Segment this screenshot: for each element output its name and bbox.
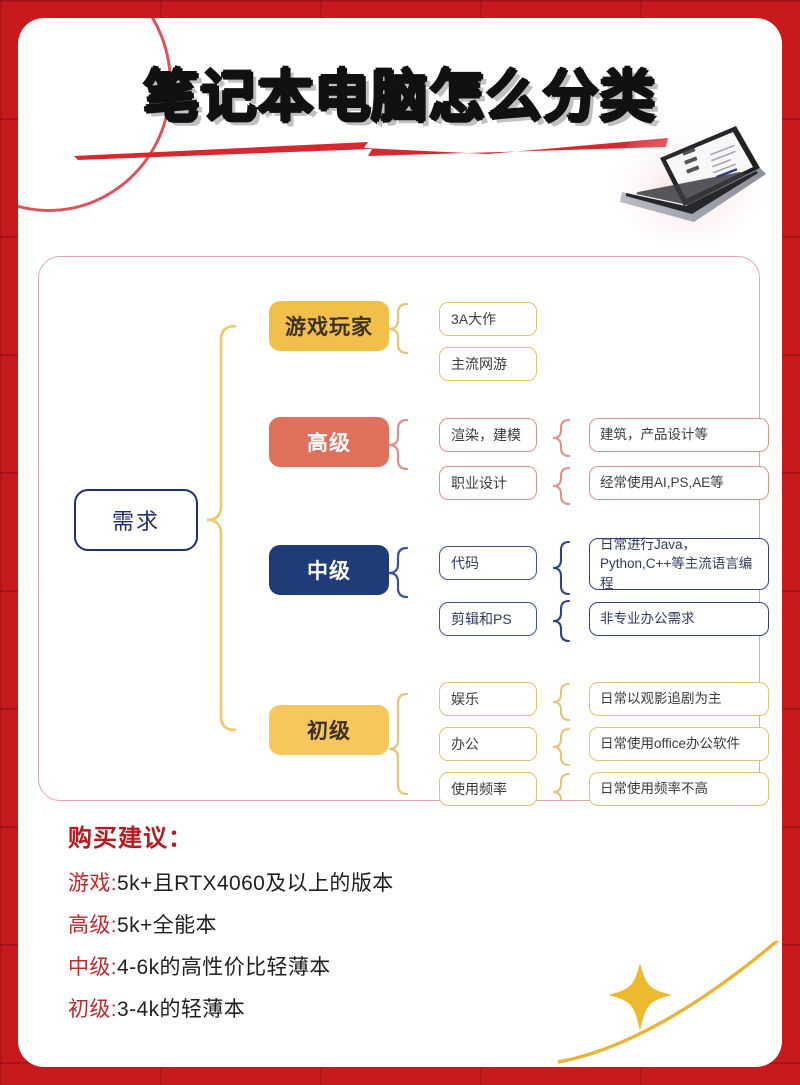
branch-senior-child-1[interactable]: 职业设计 xyxy=(439,466,537,500)
branch-game-child-1[interactable]: 主流网游 xyxy=(439,347,537,381)
advice-row: 中级:4-6k的高性价比轻薄本 xyxy=(68,951,628,981)
branch-game[interactable]: 游戏玩家 xyxy=(269,301,389,351)
branch-junior-detail-2[interactable]: 日常使用频率不高 xyxy=(589,772,769,806)
branch-middle-child-1[interactable]: 剪辑和PS xyxy=(439,602,537,636)
laptop-illustration xyxy=(608,114,768,249)
advice-key-3: 初级: xyxy=(68,998,117,1021)
advice-value-3: 3-4k的轻薄本 xyxy=(117,998,245,1021)
branch-junior-child-1[interactable]: 办公 xyxy=(439,727,537,761)
gold-sparkle-decoration xyxy=(558,941,782,1067)
branch-middle-detail-0[interactable]: 日常进行Java，Python,C++等主流语言编程 xyxy=(589,538,769,590)
mindmap-panel: 需求 游戏玩家 3A大作 主流网游 高级 渲染，建模 职业设计 建筑，产品设计等… xyxy=(38,256,760,801)
poster-card: 笔记本电脑怎么分类 xyxy=(18,18,782,1067)
branch-game-child-0[interactable]: 3A大作 xyxy=(439,302,537,336)
title-underline-stroke xyxy=(68,134,668,160)
advice-key-1: 高级: xyxy=(68,914,117,937)
branch-senior-detail-0[interactable]: 建筑，产品设计等 xyxy=(589,418,769,452)
branch-middle[interactable]: 中级 xyxy=(269,545,389,595)
advice-value-2: 4-6k的高性价比轻薄本 xyxy=(117,956,331,979)
mindmap: 需求 游戏玩家 3A大作 主流网游 高级 渲染，建模 职业设计 建筑，产品设计等… xyxy=(39,257,759,800)
advice-row: 初级:3-4k的轻薄本 xyxy=(68,993,628,1023)
branch-middle-detail-1[interactable]: 非专业办公需求 xyxy=(589,602,769,636)
branch-junior-child-0[interactable]: 娱乐 xyxy=(439,682,537,716)
branch-senior-child-0[interactable]: 渲染，建模 xyxy=(439,418,537,452)
advice-heading: 购买建议： xyxy=(68,818,628,853)
branch-junior-detail-1[interactable]: 日常使用office办公软件 xyxy=(589,727,769,761)
mindmap-root[interactable]: 需求 xyxy=(74,489,198,551)
page-title: 笔记本电脑怎么分类 xyxy=(144,52,657,133)
advice-value-0: 5k+且RTX4060及以上的版本 xyxy=(117,872,394,895)
advice-key-0: 游戏: xyxy=(68,872,117,895)
advice-row: 游戏:5k+且RTX4060及以上的版本 xyxy=(68,867,628,897)
buying-advice: 购买建议： 游戏:5k+且RTX4060及以上的版本 高级:5k+全能本 中级:… xyxy=(68,818,628,1035)
branch-senior-detail-1[interactable]: 经常使用AI,PS,AE等 xyxy=(589,466,769,500)
branch-junior-child-2[interactable]: 使用频率 xyxy=(439,772,537,806)
branch-middle-child-0[interactable]: 代码 xyxy=(439,546,537,580)
branch-junior[interactable]: 初级 xyxy=(269,705,389,755)
advice-value-1: 5k+全能本 xyxy=(117,914,217,937)
branch-junior-detail-0[interactable]: 日常以观影追剧为主 xyxy=(589,682,769,716)
advice-key-2: 中级: xyxy=(68,956,117,979)
branch-senior[interactable]: 高级 xyxy=(269,417,389,467)
advice-row: 高级:5k+全能本 xyxy=(68,909,628,939)
